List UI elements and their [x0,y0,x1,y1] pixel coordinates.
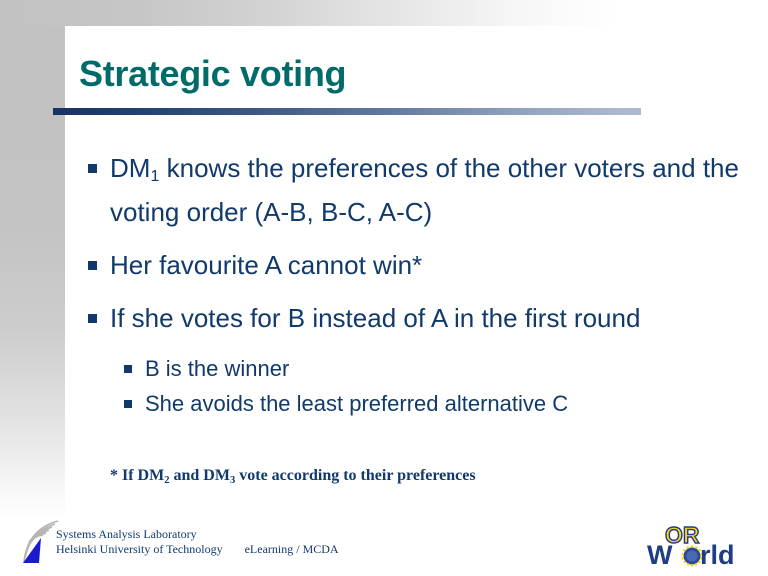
sub-bullet-item: B is the winner [0,353,768,384]
footer-text-block: Systems Analysis Laboratory Helsinki Uni… [56,527,339,557]
bullet-text-part: knows the preferences of the other voter… [110,153,739,227]
footnote-part: * If DM [110,467,164,484]
bullet-text: Her favourite A cannot win* [110,250,422,280]
page-title: Strategic voting [79,53,346,95]
sub-bullet-text: B is the winner [145,356,289,381]
footnote-part: vote according to their preferences [235,467,475,484]
bullet-square-icon [124,400,132,408]
bullet-text: If she votes for B instead of A in the f… [110,303,640,333]
slide-footer: Systems Analysis Laboratory Helsinki Uni… [0,518,768,576]
footnote-part: and DM [170,467,230,484]
bullet-square-icon [88,261,97,270]
footnote: * If DM2 and DM3 vote according to their… [110,467,476,486]
sub-bullet-text: She avoids the least preferred alternati… [145,391,568,416]
bullet-square-icon [124,365,132,373]
bullet-item: Her favourite A cannot win* [0,247,768,283]
slide-body: DM1 knows the preferences of the other v… [0,150,768,423]
bullet-item: If she votes for B instead of A in the f… [0,300,768,336]
decorative-top-band [0,0,768,26]
bullet-item: DM1 knows the preferences of the other v… [0,150,768,230]
bullet-text-part: DM [110,153,150,183]
bullet-square-icon [88,164,97,173]
title-divider-rule [53,108,641,115]
footer-course-label: eLearning / MCDA [223,542,339,556]
or-world-rld-text: rld [700,540,735,570]
or-world-w-text: W [647,540,673,570]
footer-org-line-2: Helsinki University of Technology [56,542,223,556]
bullet-square-icon [88,314,97,323]
sub-bullet-item: She avoids the least preferred alternati… [0,388,768,419]
slide-canvas: Strategic voting DM1 knows the preferenc… [0,0,768,576]
or-world-logo: OR W rld [645,519,763,571]
footer-org-line-1: Systems Analysis Laboratory [56,527,339,542]
